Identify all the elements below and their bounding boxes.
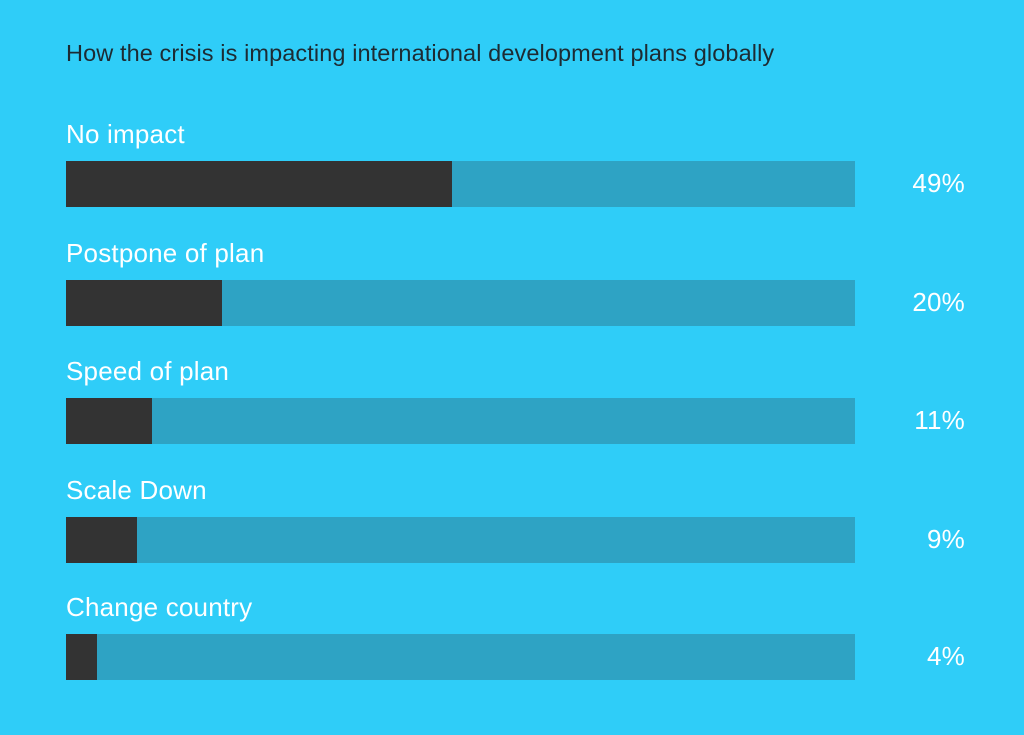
bar-track (66, 280, 855, 326)
bar-row: Speed of plan 11% (0, 356, 1024, 474)
bar-value-label: 49% (865, 168, 965, 199)
bar-value-label: 11% (865, 405, 965, 436)
bar-value-label: 4% (865, 641, 965, 672)
bar-value-label: 20% (865, 287, 965, 318)
bar-row: Change country 4% (0, 592, 1024, 710)
bar-row-label: Postpone of plan (66, 238, 264, 269)
bar-row-label: Change country (66, 592, 252, 623)
bar-fill (66, 398, 152, 444)
bar-row-label: Scale Down (66, 475, 207, 506)
bar-fill (66, 517, 137, 563)
bar-row: Scale Down 9% (0, 475, 1024, 593)
bar-row-label: Speed of plan (66, 356, 229, 387)
bar-fill (66, 161, 452, 207)
bar-row: No impact 49% (0, 119, 1024, 237)
chart-canvas: How the crisis is impacting internationa… (0, 0, 1024, 735)
bar-row: Postpone of plan 20% (0, 238, 1024, 356)
bar-track (66, 517, 855, 563)
bar-track (66, 161, 855, 207)
bar-chart-rows: No impact 49% Postpone of plan 20% Speed… (0, 0, 1024, 735)
bar-track (66, 634, 855, 680)
bar-track (66, 398, 855, 444)
bar-fill (66, 634, 97, 680)
bar-row-label: No impact (66, 119, 185, 150)
bar-value-label: 9% (865, 524, 965, 555)
bar-fill (66, 280, 222, 326)
